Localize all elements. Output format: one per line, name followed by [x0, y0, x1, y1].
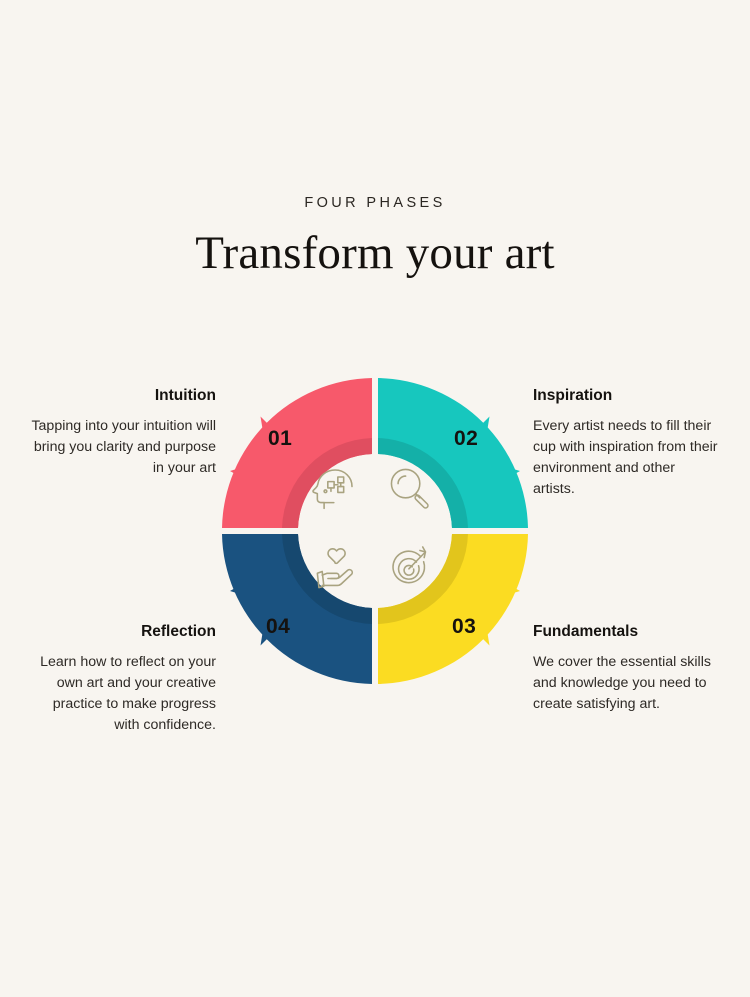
target-arrow-icon	[382, 540, 436, 594]
phase-block-inspiration: Inspiration Every artist needs to fill t…	[533, 386, 719, 500]
eyebrow-label: FOUR PHASES	[0, 196, 750, 211]
page-header: FOUR PHASES Transform your art	[0, 196, 750, 280]
segment-number-03: 03	[452, 616, 476, 637]
cycle-diagram-svg	[208, 364, 542, 698]
segment-number-01: 01	[268, 428, 292, 449]
phase-body-reflection: Learn how to reflect on your own art and…	[30, 652, 216, 736]
phase-title-reflection: Reflection	[30, 622, 216, 641]
head-brain-icon	[307, 460, 361, 514]
phase-title-fundamentals: Fundamentals	[533, 622, 719, 641]
segment-number-04: 04	[266, 616, 290, 637]
phase-block-fundamentals: Fundamentals We cover the essential skil…	[533, 622, 719, 715]
phase-body-inspiration: Every artist needs to fill their cup wit…	[533, 416, 719, 500]
heart-in-hand-icon	[307, 540, 361, 594]
segment-number-02: 02	[454, 428, 478, 449]
phase-title-intuition: Intuition	[30, 386, 216, 405]
phase-block-reflection: Reflection Learn how to reflect on your …	[30, 622, 216, 736]
cycle-diagram: 01 02 03 04	[222, 378, 528, 684]
magnifier-icon	[382, 460, 436, 514]
phase-title-inspiration: Inspiration	[533, 386, 719, 405]
phase-body-intuition: Tapping into your intuition will bring y…	[30, 416, 216, 479]
phase-block-intuition: Intuition Tapping into your intuition wi…	[30, 386, 216, 479]
phase-body-fundamentals: We cover the essential skills and knowle…	[533, 652, 719, 715]
page-title: Transform your art	[0, 226, 750, 280]
